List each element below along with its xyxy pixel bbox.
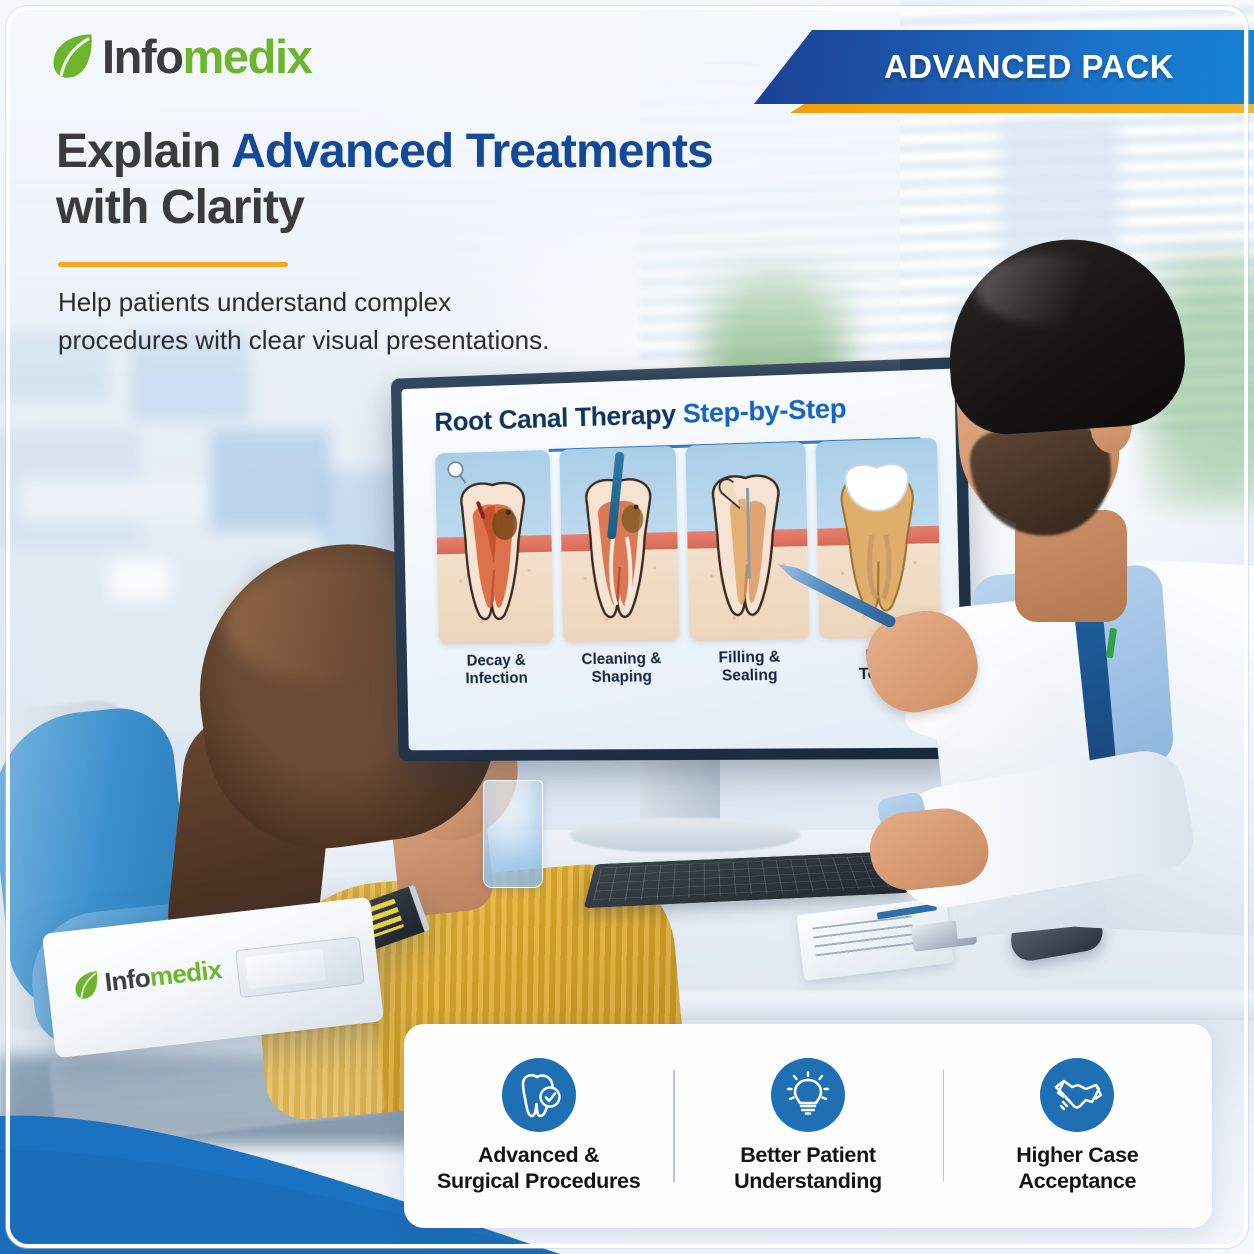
monitor-stand-base [570, 818, 800, 852]
screen-title: Root Canal Therapy Step-by-Step [434, 393, 846, 438]
screen-title-sub: Step-by-Step [682, 393, 846, 429]
step-caption-2-line1: Cleaning & [563, 650, 680, 669]
filled-canal-illustration [699, 467, 795, 620]
step-panel-2[interactable] [559, 446, 680, 643]
headline-accent-rule [58, 262, 288, 267]
step-panel-3[interactable] [685, 442, 808, 641]
banner-accent-strip [790, 104, 1254, 113]
step-caption-3-line2: Sealing [690, 666, 810, 685]
step-caption-2-line2: Shaping [563, 668, 680, 687]
feature-item-better-understanding[interactable]: Better Patient Understanding [673, 1058, 942, 1195]
screen-title-main: Root Canal Therapy [434, 399, 676, 437]
brand-name-info: Info [102, 30, 183, 83]
feature-1-line1: Better Patient [734, 1143, 882, 1169]
feature-item-higher-acceptance[interactable]: Higher Case Acceptance [943, 1058, 1212, 1195]
headline-line2: with Clarity [56, 181, 304, 234]
subheadline-line1: Help patients understand complex [58, 284, 678, 322]
tooth-check-icon [502, 1058, 576, 1132]
subheadline-line2: procedures with clear visual presentatio… [58, 322, 678, 360]
step-caption-3: Filling & Sealing [690, 648, 810, 685]
step-caption-1-line1: Decay & [439, 652, 554, 671]
step-caption-1-line2: Infection [440, 669, 555, 688]
feature-2-line1: Higher Case [1016, 1143, 1138, 1169]
banner-label: ADVANCED PACK [754, 30, 1254, 104]
feature-label-higher-acceptance: Higher Case Acceptance [1016, 1143, 1138, 1195]
handshake-icon [1040, 1058, 1114, 1132]
headline-line1-plain: Explain [56, 125, 231, 178]
features-bar: Advanced & Surgical Procedures Better Pa… [404, 1024, 1212, 1228]
feature-0-line1: Advanced & [437, 1143, 640, 1169]
leaf-icon [52, 32, 94, 80]
feature-label-advanced-surgical: Advanced & Surgical Procedures [437, 1143, 640, 1195]
step-caption-2: Cleaning & Shaping [563, 650, 680, 687]
page-subheadline: Help patients understand complex procedu… [58, 284, 678, 359]
lightbulb-icon [771, 1058, 845, 1132]
dentist-figure [930, 210, 1254, 910]
step-caption-1: Decay & Infection [439, 652, 554, 688]
decayed-tooth-illustration [448, 474, 540, 624]
usb-logo-info: Info [103, 962, 151, 997]
water-glass [483, 780, 543, 888]
page-headline: Explain Advanced Treatments with Clarity [56, 124, 836, 235]
feature-0-line2: Surgical Procedures [437, 1169, 640, 1195]
headline-line1-highlight: Advanced Treatments [231, 125, 713, 178]
feature-1-line2: Understanding [734, 1169, 882, 1195]
brand-name-medix: medix [183, 30, 312, 83]
advanced-pack-banner: ADVANCED PACK [754, 30, 1254, 104]
mirror-instrument-icon [446, 460, 469, 486]
brand-logo-text: Infomedix [102, 33, 311, 80]
step-caption-3-line1: Filling & [690, 648, 810, 667]
feature-item-advanced-surgical[interactable]: Advanced & Surgical Procedures [404, 1058, 673, 1195]
marketing-graphic-canvas: Root Canal Therapy Step-by-Step [0, 0, 1254, 1254]
step-panel-1[interactable] [435, 450, 553, 644]
feature-2-line2: Acceptance [1016, 1169, 1138, 1195]
feature-label-better-understanding: Better Patient Understanding [734, 1143, 882, 1195]
leaf-icon [72, 968, 101, 1001]
brand-logo[interactable]: Infomedix [52, 32, 311, 80]
